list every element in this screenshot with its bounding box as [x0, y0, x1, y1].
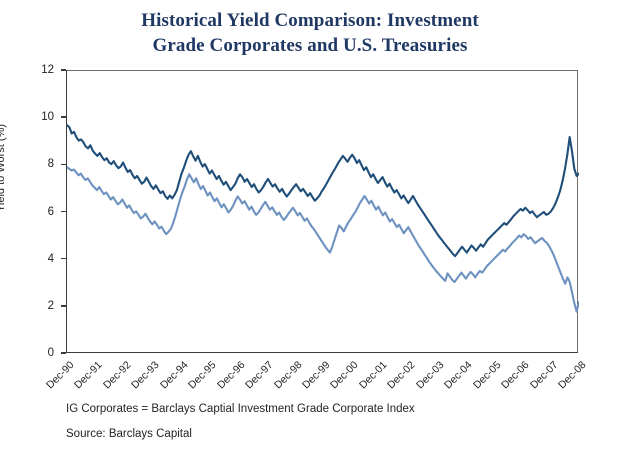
definition-note: IG Corporates = Barclays Captial Investm…	[66, 403, 415, 415]
y-tick-label: 12	[14, 64, 54, 76]
y-tick-mark	[61, 211, 66, 212]
y-tick-label: 0	[14, 347, 54, 359]
y-tick-mark	[61, 352, 66, 353]
line-corporates	[67, 125, 579, 256]
chart-title: Historical Yield Comparison: Investment …	[0, 8, 620, 58]
chart-page: Historical Yield Comparison: Investment …	[0, 0, 620, 465]
y-tick-label: 6	[14, 206, 54, 218]
y-tick-mark	[61, 258, 66, 259]
y-tick-mark	[61, 116, 66, 117]
y-tick-mark	[61, 305, 66, 306]
chart-title-line2: Grade Corporates and U.S. Treasuries	[0, 33, 620, 58]
y-tick-mark	[61, 69, 66, 70]
plot-area	[66, 70, 578, 353]
chart-title-line1: Historical Yield Comparison: Investment	[141, 10, 479, 31]
y-tick-label: 10	[14, 111, 54, 123]
y-tick-label: 2	[14, 300, 54, 312]
y-axis-title: Yield to Worst (%)	[0, 124, 7, 212]
series-canvas	[67, 71, 579, 354]
source-note: Source: Barclays Capital	[66, 428, 192, 440]
y-tick-label: 4	[14, 253, 54, 265]
y-tick-mark	[61, 164, 66, 165]
y-tick-label: 8	[14, 158, 54, 170]
